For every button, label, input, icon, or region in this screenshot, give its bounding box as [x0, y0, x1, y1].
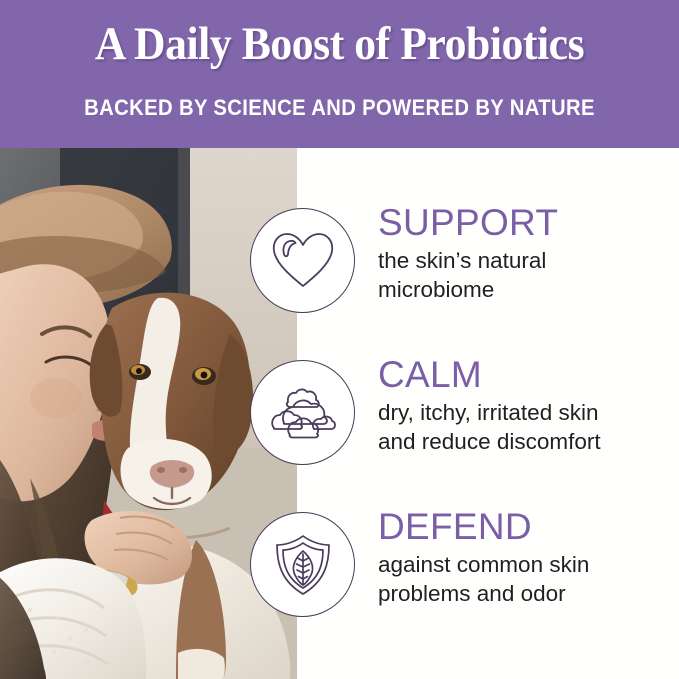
- feature-calm: CALM dry, itchy, irritated skin and redu…: [0, 358, 679, 508]
- feature-calm-text: CALM dry, itchy, irritated skin and redu…: [378, 354, 678, 456]
- page-title: A Daily Boost of Probiotics: [24, 16, 655, 72]
- feature-support-text: SUPPORT the skin’s natural microbiome: [378, 202, 678, 304]
- feature-calm-heading: CALM: [378, 354, 678, 396]
- feature-defend-text: DEFEND against common skin problems and …: [378, 506, 678, 608]
- heart-icon: [250, 208, 355, 313]
- feature-list: SUPPORT the skin’s natural microbiome: [0, 148, 679, 679]
- feature-calm-body-line2: and reduce discomfort: [378, 427, 678, 456]
- probiotics-infographic: A Daily Boost of Probiotics BACKED BY SC…: [0, 0, 679, 679]
- clouds-icon: [250, 360, 355, 465]
- feature-defend-body-line2: problems and odor: [378, 579, 678, 608]
- feature-calm-body-line1: dry, itchy, irritated skin: [378, 398, 678, 427]
- header-banner: A Daily Boost of Probiotics BACKED BY SC…: [0, 0, 679, 148]
- feature-support-body-line1: the skin’s natural: [378, 246, 678, 275]
- feature-support-heading: SUPPORT: [378, 202, 678, 244]
- feature-support-body-line2: microbiome: [378, 275, 678, 304]
- feature-defend-body-line1: against common skin: [378, 550, 678, 579]
- page-subtitle: BACKED BY SCIENCE AND POWERED BY NATURE: [27, 94, 652, 122]
- feature-defend-heading: DEFEND: [378, 506, 678, 548]
- feature-defend: DEFEND against common skin problems and …: [0, 510, 679, 660]
- feature-support: SUPPORT the skin’s natural microbiome: [0, 206, 679, 356]
- shield-leaf-icon: [250, 512, 355, 617]
